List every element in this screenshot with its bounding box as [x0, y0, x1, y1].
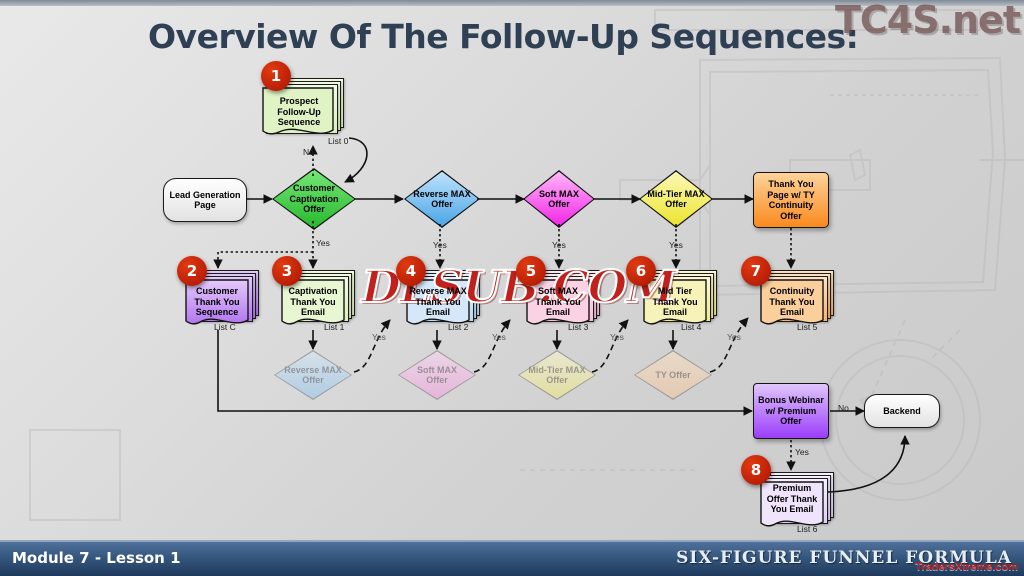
- node-label: Mid-Tier MAX Offer: [644, 189, 708, 210]
- node-ghost-reverse-max-offer[interactable]: Reverse MAX Offer: [274, 350, 352, 400]
- node-mid-tier-max-offer[interactable]: Mid-Tier MAX Offer: [639, 170, 713, 228]
- node-customer-captivation-offer[interactable]: Customer Captivation Offer: [272, 168, 356, 230]
- list-label-2: List 2: [448, 322, 468, 332]
- node-label: Soft MAX Thank You Email: [527, 286, 589, 318]
- list-label-5: List 5: [797, 322, 817, 332]
- list-label-6: List 6: [797, 524, 817, 534]
- edge-label-no-backend: No: [838, 403, 849, 413]
- node-label: Thank You Page w/ TY Continuity Offer: [757, 179, 825, 221]
- node-lead-generation-page[interactable]: Lead Generation Page: [163, 178, 247, 222]
- node-label: Reverse MAX Offer: [411, 189, 473, 210]
- node-label: Customer Captivation Offer: [279, 183, 349, 215]
- page-title: Overview Of The Follow-Up Sequences:: [148, 17, 858, 56]
- edge-label-yes-ghost-soft: Yes: [492, 332, 506, 342]
- watermark-tc4s: TC4S.net: [835, 0, 1020, 42]
- node-label: Premium Offer Thank You Email: [761, 483, 823, 515]
- node-label: Reverse MAX Thank You Email: [407, 286, 469, 318]
- badge-8[interactable]: 8: [741, 455, 771, 485]
- edge-label-yes-ghost-reverse: Yes: [372, 332, 386, 342]
- edge-label-yes-premium: Yes: [795, 447, 809, 457]
- node-label: Continuity Thank You Email: [761, 286, 823, 318]
- node-backend[interactable]: Backend: [864, 394, 940, 428]
- list-label-4: List 4: [681, 322, 701, 332]
- slide-canvas: Overview Of The Follow-Up Sequences: TC4…: [0, 0, 1024, 576]
- node-label: Lead Generation Page: [164, 190, 246, 211]
- edge-label-list0: List 0: [328, 136, 348, 146]
- footer-module-lesson: Module 7 - Lesson 1: [12, 549, 181, 567]
- edge-label-yes-reverse: Yes: [433, 240, 447, 250]
- node-ghost-soft-max-offer[interactable]: Soft MAX Offer: [398, 350, 476, 400]
- node-premium-offer-thank-you-email[interactable]: Premium Offer Thank You Email: [760, 472, 832, 530]
- node-soft-max-offer[interactable]: Soft MAX Offer: [523, 170, 595, 228]
- node-continuity-thank-you-email[interactable]: Continuity Thank You Email: [760, 270, 832, 328]
- edge-label-yes-midtier: Yes: [669, 240, 683, 250]
- node-label: Backend: [883, 406, 921, 417]
- list-label-3: List 3: [568, 322, 588, 332]
- node-label: Customer Thank You Sequence: [186, 286, 248, 318]
- node-reverse-max-offer[interactable]: Reverse MAX Offer: [404, 170, 480, 228]
- list-label-1: List 1: [324, 322, 344, 332]
- edge-label-yes-captivation: Yes: [316, 238, 330, 248]
- edge-label-yes-ghost-ty: Yes: [727, 332, 741, 342]
- node-ghost-ty-offer[interactable]: TY Offer: [634, 350, 712, 400]
- node-label: Reverse MAX Offer: [282, 365, 344, 386]
- badge-3[interactable]: 3: [272, 256, 302, 286]
- badge-4[interactable]: 4: [396, 256, 426, 286]
- node-thank-you-page-ty-continuity[interactable]: Thank You Page w/ TY Continuity Offer: [753, 172, 829, 228]
- badge-2[interactable]: 2: [177, 256, 207, 286]
- node-label: Soft MAX Offer: [529, 189, 589, 210]
- node-bonus-webinar-premium-offer[interactable]: Bonus Webinar w/ Premium Offer: [753, 383, 829, 439]
- list-label-c: List C: [214, 322, 236, 332]
- edge-label-yes-ghost-midtier: Yes: [610, 332, 624, 342]
- node-label: Bonus Webinar w/ Premium Offer: [756, 395, 826, 427]
- footer-bar: Module 7 - Lesson 1 SIX-FIGURE FUNNEL FO…: [0, 540, 1024, 576]
- badge-6[interactable]: 6: [626, 256, 656, 286]
- edge-label-yes-soft: Yes: [552, 240, 566, 250]
- watermark-tradersxtreme: TradersXtreme.com: [915, 561, 1018, 573]
- node-label: Mid Tier Thank You Email: [644, 286, 706, 318]
- badge-5[interactable]: 5: [516, 256, 546, 286]
- badge-1[interactable]: 1: [261, 61, 291, 91]
- node-label: Mid-Tier MAX Offer: [526, 365, 588, 386]
- node-label: TY Offer: [642, 370, 704, 381]
- node-label: Soft MAX Offer: [407, 365, 467, 386]
- edge-label-no-loop: No: [303, 147, 314, 157]
- node-label: Captivation Thank You Email: [282, 286, 344, 318]
- node-label: Prospect Follow-Up Sequence: [264, 96, 334, 128]
- node-ghost-mid-tier-max-offer[interactable]: Mid-Tier MAX Offer: [518, 350, 596, 400]
- badge-7[interactable]: 7: [741, 256, 771, 286]
